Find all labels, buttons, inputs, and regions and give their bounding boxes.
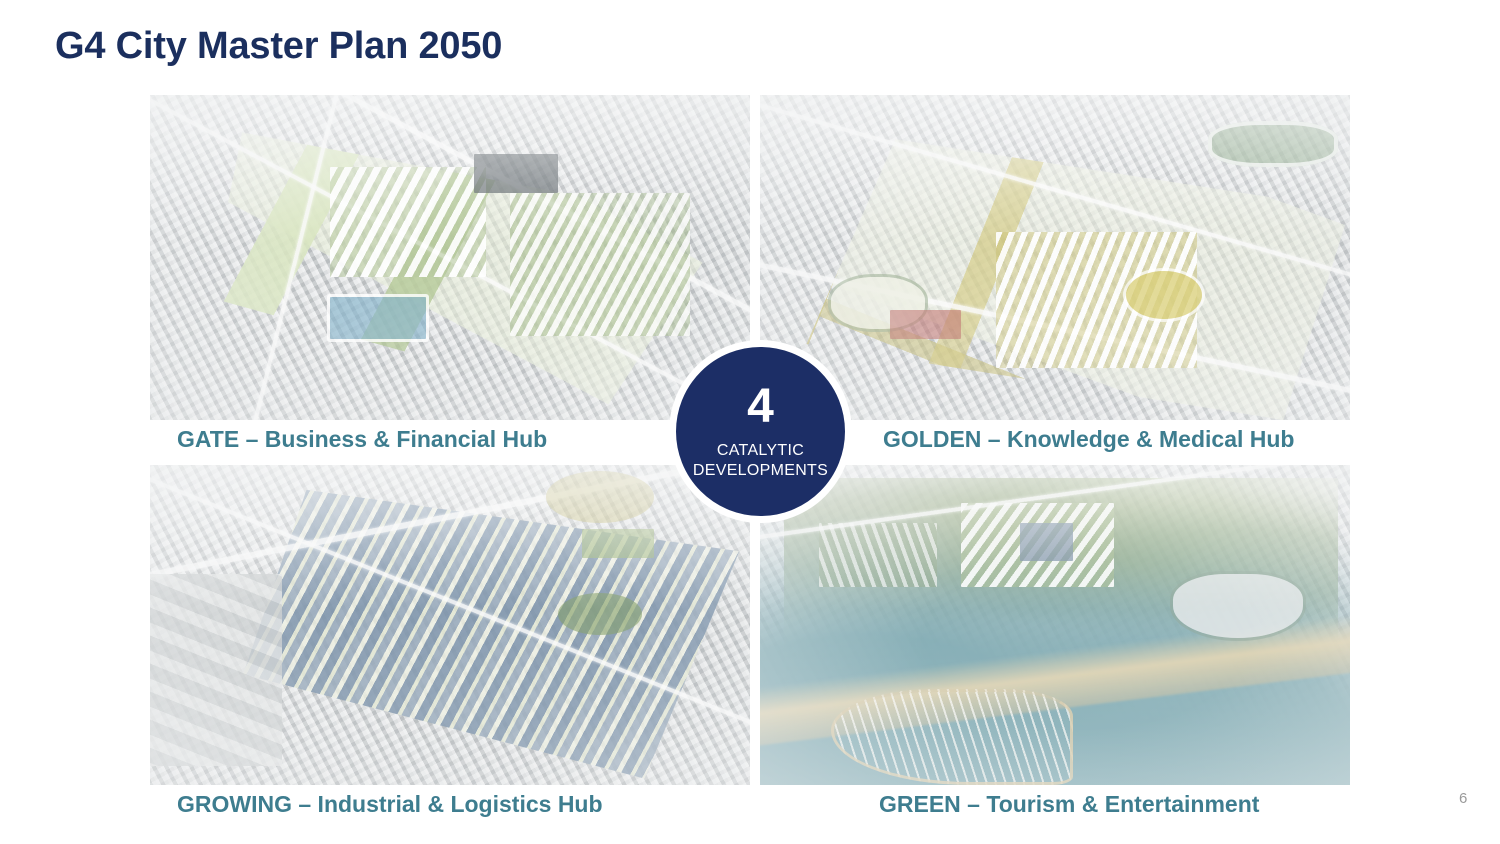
caption-golden: GOLDEN – Knowledge & Medical Hub <box>883 426 1294 453</box>
aerial-render-golden-knowledge-medical-hub[interactable] <box>760 95 1350 420</box>
aerial-photo-layers <box>760 95 1350 420</box>
caption-growing: GROWING – Industrial & Logistics Hub <box>177 791 603 818</box>
edge-vignette <box>760 95 1350 420</box>
badge-label-line2: DEVELOPMENTS <box>693 461 828 481</box>
page-title: G4 City Master Plan 2050 <box>55 25 502 68</box>
badge-label-line1: CATALYTIC <box>717 441 804 461</box>
catalytic-developments-badge: 4 CATALYTIC DEVELOPMENTS <box>669 340 852 523</box>
edge-vignette <box>760 465 1350 785</box>
aerial-photo-layers <box>760 465 1350 785</box>
badge-count: 4 <box>747 383 774 431</box>
aerial-render-green-tourism-entertainment[interactable] <box>760 465 1350 785</box>
caption-gate: GATE – Business & Financial Hub <box>177 426 547 453</box>
caption-green: GREEN – Tourism & Entertainment <box>879 791 1259 818</box>
aerial-render-growing-industrial-logistics-hub[interactable] <box>150 465 750 785</box>
slide-canvas: G4 City Master Plan 2050 GATE – Business… <box>0 0 1500 844</box>
edge-vignette <box>150 95 750 420</box>
aerial-photo-layers <box>150 465 750 785</box>
page-number: 6 <box>1459 790 1467 807</box>
edge-vignette <box>150 465 750 785</box>
aerial-photo-layers <box>150 95 750 420</box>
aerial-render-gate-business-financial-hub[interactable] <box>150 95 750 420</box>
